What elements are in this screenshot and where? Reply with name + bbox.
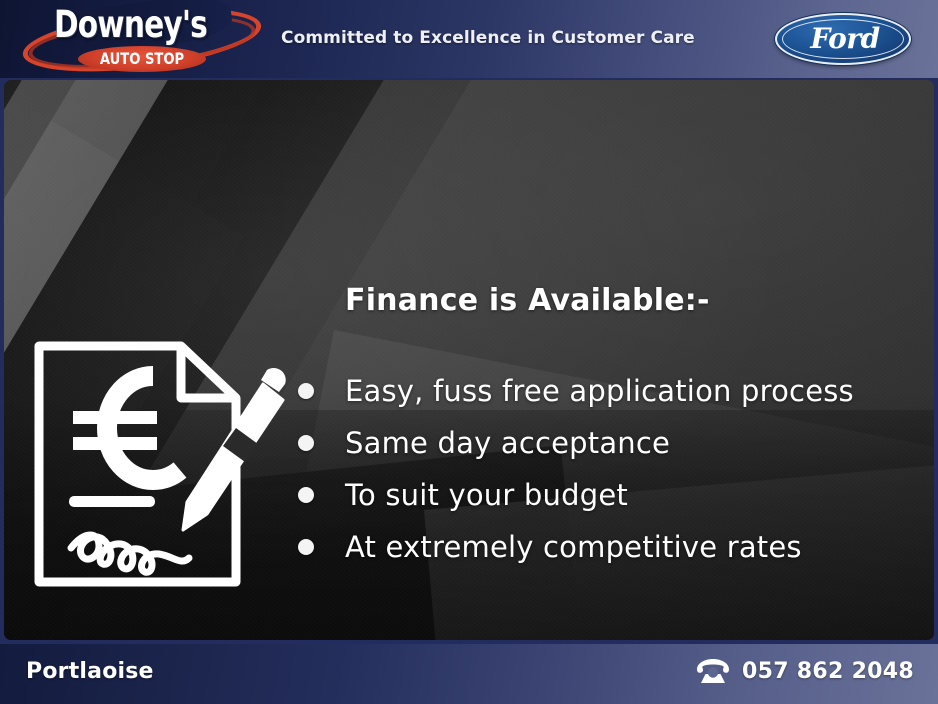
ford-logo-text: Ford (777, 20, 911, 58)
euro-document-signature-icon (31, 336, 291, 592)
list-item: At extremely competitive rates (298, 521, 918, 573)
list-item-label: To suit your budget (345, 478, 628, 512)
bullet-dot-icon (298, 435, 314, 451)
footer-phone-number: 057 862 2048 (742, 659, 914, 684)
site-footer: Portlaoise 057 862 2048 (0, 644, 938, 704)
logo-name-text: Downey's (54, 5, 198, 45)
ford-logo[interactable]: Ford (775, 13, 911, 65)
finance-banner: Finance is Available:- Easy, fuss free a… (4, 80, 934, 640)
bullet-dot-icon (298, 539, 314, 555)
list-item-label: Same day acceptance (345, 426, 670, 460)
bullet-dot-icon (298, 487, 314, 503)
list-item-label: At extremely competitive rates (345, 530, 802, 564)
finance-benefits-list: Easy, fuss free application process Same… (298, 365, 918, 573)
list-item: To suit your budget (298, 469, 918, 521)
footer-location-label: Portlaoise (26, 659, 154, 684)
banner-heading: Finance is Available:- (345, 283, 710, 318)
dealer-finance-banner: Downey's AUTO STOP Committed to Excellen… (0, 0, 938, 704)
downeys-auto-stop-logo[interactable]: Downey's AUTO STOP (22, 2, 262, 76)
logo-subtitle-text: AUTO STOP (90, 48, 195, 69)
footer-phone[interactable]: 057 862 2048 (696, 658, 914, 684)
telephone-icon (696, 658, 730, 684)
list-item: Easy, fuss free application process (298, 365, 918, 417)
header-tagline: Committed to Excellence in Customer Care (281, 28, 695, 48)
list-item: Same day acceptance (298, 417, 918, 469)
list-item-label: Easy, fuss free application process (345, 374, 854, 408)
site-header: Downey's AUTO STOP Committed to Excellen… (0, 0, 938, 78)
bullet-dot-icon (298, 383, 314, 399)
